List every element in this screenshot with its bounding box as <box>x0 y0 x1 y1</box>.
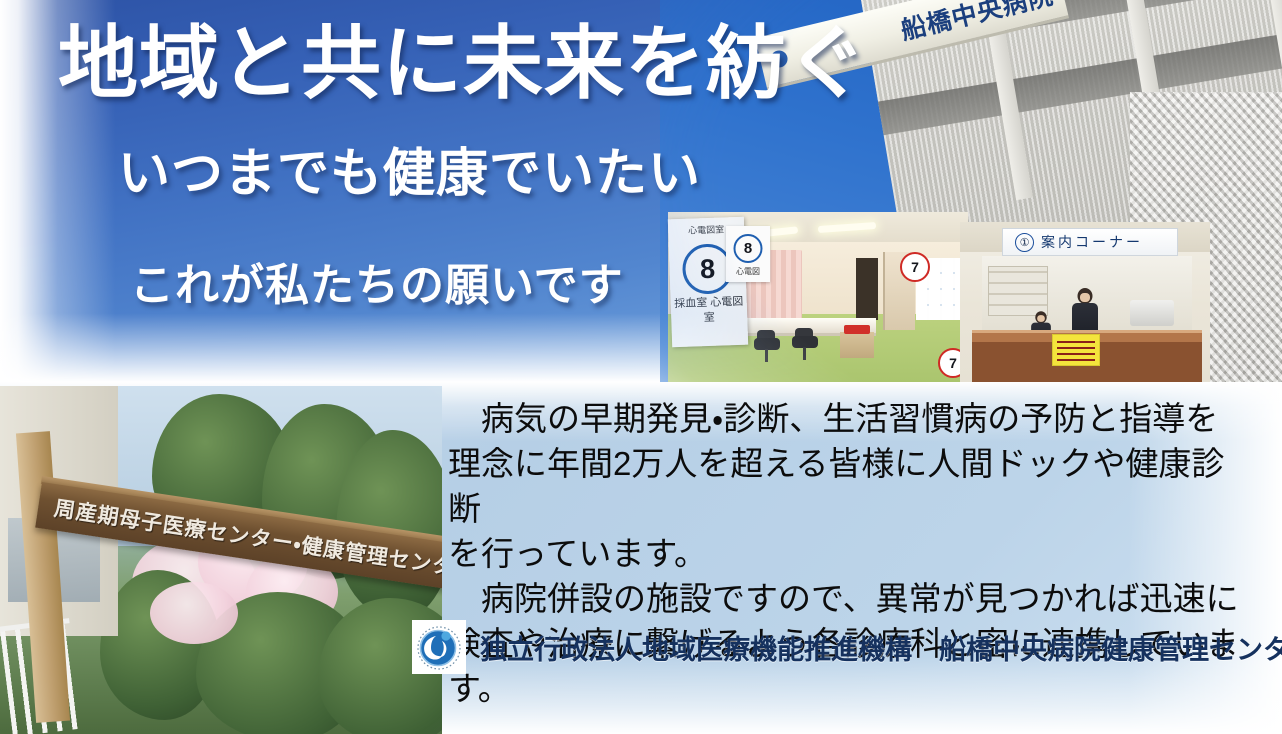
gate-photo: 周産期母子医療センター・健康管理センター <box>0 386 442 734</box>
hero-subline: いつまでも健康でいたい <box>118 148 701 200</box>
staff-face <box>1080 293 1090 302</box>
hero-wish-line: これが私たちの願いです <box>130 264 624 308</box>
room-sticker-7: 7 <box>900 252 930 282</box>
hanging-sign-number: 8 <box>734 234 763 263</box>
staff-uniform <box>1072 303 1098 333</box>
hanging-sign-8: 8 心電図 <box>726 226 770 282</box>
reception-area: ① 案内コーナー <box>960 222 1210 382</box>
supply-cabinet <box>840 332 874 358</box>
jcho-logo-icon <box>412 620 466 674</box>
poster-root: 船橋中央病院 <box>0 0 1282 734</box>
hanging-sign-label: 心電図 <box>726 266 770 277</box>
yellow-notice-sign <box>1052 334 1100 366</box>
reception-sign-label: 案内コーナー <box>1041 232 1143 252</box>
organization-row: 独立行政法人地域医療機能推進機構 船橋中央病院健康管理センター <box>412 620 1282 674</box>
cherry-blossom <box>150 582 238 644</box>
lower-section: 周産期母子医療センター・健康管理センター 病気の早期発見・診断、生活習慣病の予防… <box>0 382 1282 734</box>
chair-leg <box>765 349 768 362</box>
staff-member <box>1072 288 1098 332</box>
chair-leg <box>803 347 806 360</box>
reception-equipment <box>1130 300 1174 326</box>
hero-headline: 地域と共に未来を紡ぐ <box>58 24 868 104</box>
placard-room-names: 採血室 心電図室 <box>671 295 748 328</box>
reception-sign-number: ① <box>1015 233 1034 252</box>
doorway-opening <box>856 258 878 320</box>
office-chair <box>754 330 781 364</box>
staff-face <box>1037 315 1045 322</box>
office-chair <box>792 328 819 362</box>
organization-name: 独立行政法人地域医療機能推進機構 船橋中央病院健康管理センター <box>480 628 1282 667</box>
reception-guide-sign: ① 案内コーナー <box>1002 228 1178 256</box>
reception-shelf <box>988 266 1048 316</box>
hero-section: 船橋中央病院 <box>0 0 1282 382</box>
